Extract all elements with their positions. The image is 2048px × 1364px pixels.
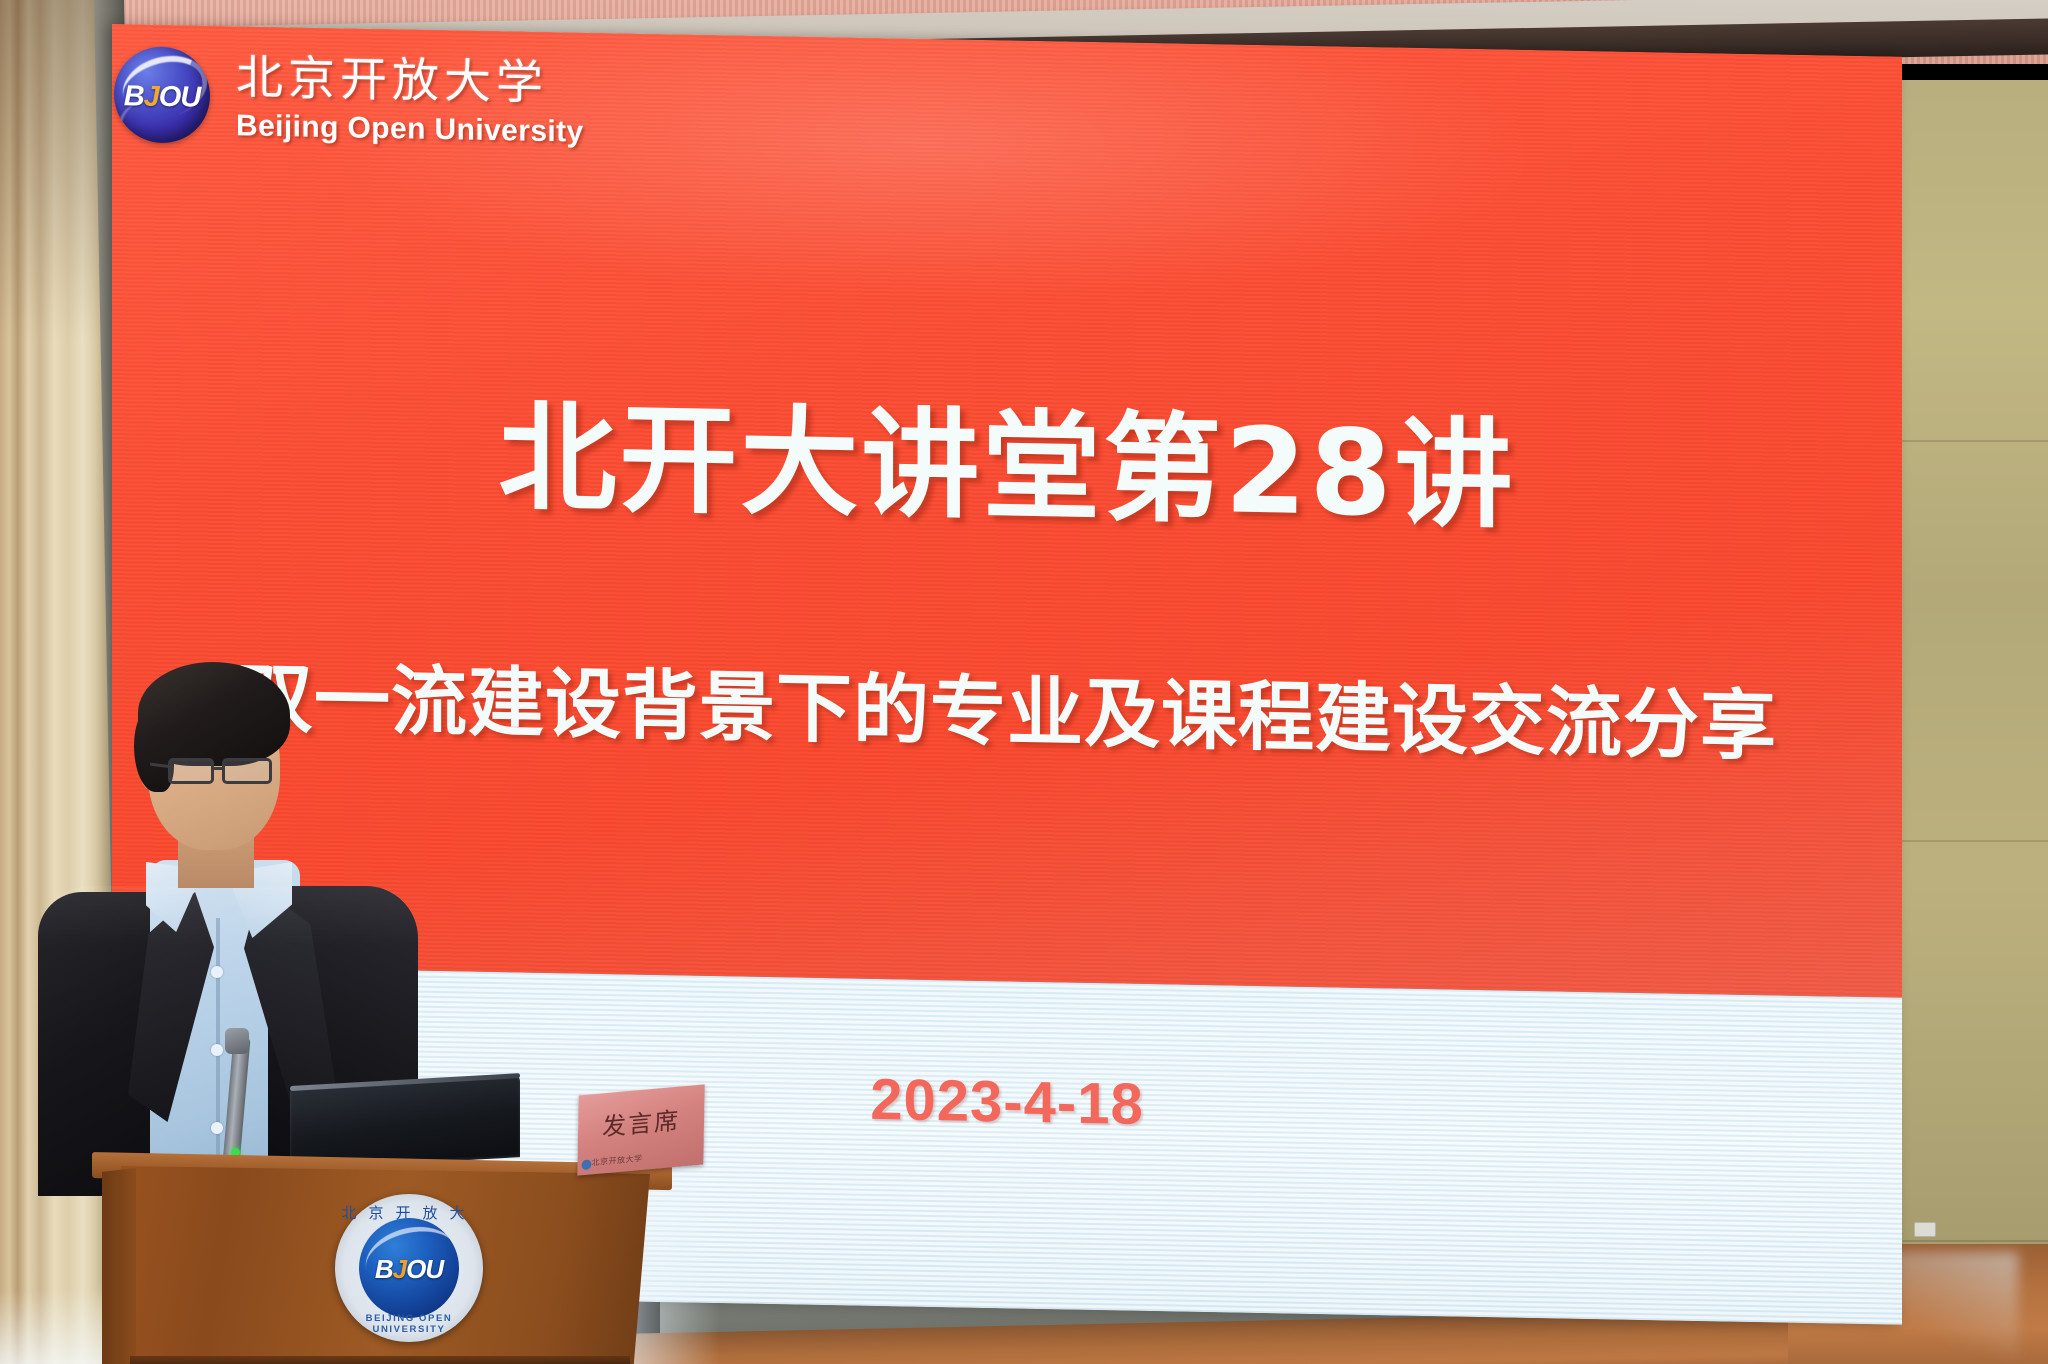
logo-mark-text: BJOU (114, 80, 210, 115)
speaker-podium: 北京开放大学 BJOU BEIJING OPEN UNIVERSITY 发言席 … (10, 1152, 680, 1364)
microphone-head-icon (225, 1028, 249, 1054)
podium-base-shadow (130, 1356, 630, 1364)
podium-side-panel (102, 1168, 136, 1364)
hair (138, 662, 290, 766)
slide-brand-block: BJOU 北京开放大学 Beijing Open University (114, 46, 584, 151)
lecture-hall-photo: BJOU 北京开放大学 Beijing Open University 北开大讲… (0, 0, 2048, 1364)
university-name-en: Beijing Open University (236, 109, 584, 149)
eyeglasses-lens-right (222, 758, 272, 784)
emblem-mark-text: BJOU (359, 1254, 459, 1285)
eyeglasses-bridge (214, 767, 224, 770)
nameplate-logo-icon (581, 1159, 591, 1170)
bjou-globe-logo-icon: BJOU (114, 46, 210, 144)
nameplate-sub-logo: 北京开放大学 (591, 1153, 642, 1168)
slide-title-main: 北开大讲堂第28讲 (112, 354, 1902, 558)
emblem-rim-en: BEIJING OPEN UNIVERSITY (335, 1313, 483, 1335)
nameplate-text: 发言席 (578, 1098, 705, 1144)
bjou-circular-emblem-icon: 北京开放大学 BJOU BEIJING OPEN UNIVERSITY (335, 1194, 483, 1342)
university-name-cn: 北京开放大学 (236, 54, 584, 109)
podium-nameplate: 发言席 北京开放大学 (577, 1084, 704, 1175)
power-outlet-icon (1914, 1222, 1936, 1237)
eyeglasses-lens-left (168, 758, 214, 784)
